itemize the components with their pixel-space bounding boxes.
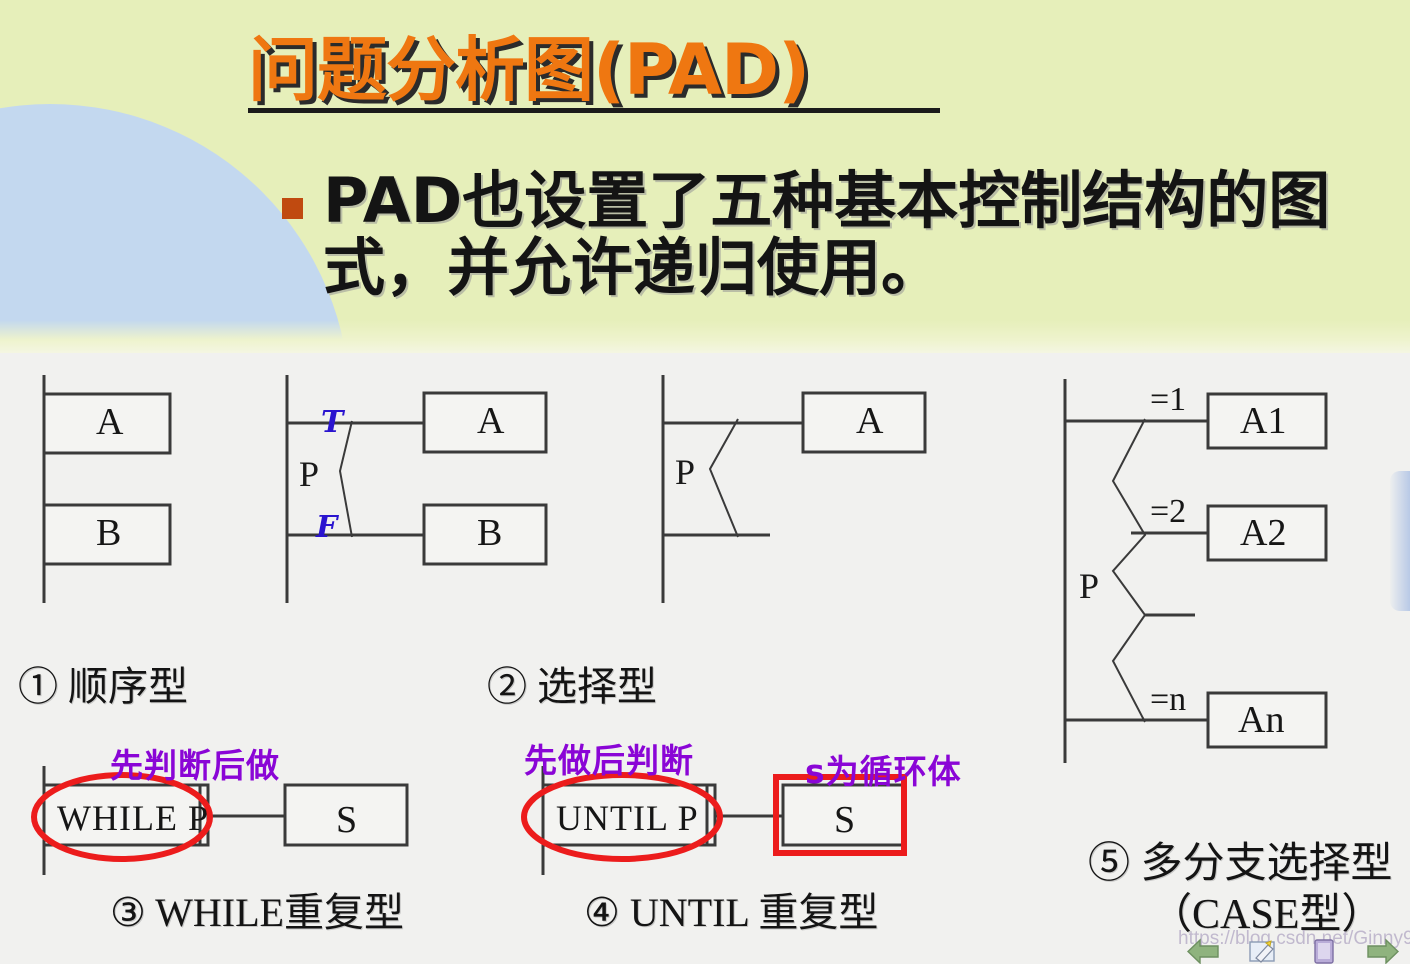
- selection2-true-mark: T: [321, 405, 343, 440]
- case-box-an-label: An: [1238, 698, 1284, 742]
- sequence-box-b-label: B: [96, 511, 121, 555]
- until-caption: ④ UNTIL 重复型: [584, 880, 878, 938]
- title-underline: [248, 108, 940, 113]
- case-condition-label: P: [1079, 565, 1099, 607]
- selection2-false-mark: F: [316, 510, 337, 545]
- sequence-box-a-label: A: [96, 400, 123, 444]
- case-zigzag-bracket: [1113, 419, 1145, 722]
- selection1-condition-label: P: [675, 451, 695, 493]
- selection2-condition-label: P: [299, 453, 319, 495]
- selection2-caption: ② 选择型: [487, 654, 657, 712]
- case-box-a2-label: A2: [1240, 511, 1286, 555]
- sequence-caption: ① 顺序型: [18, 654, 188, 712]
- bullet-square-icon: [282, 198, 303, 219]
- bullet-row: PAD也设置了五种基本控制结构的图式，并允许递归使用。: [282, 168, 1362, 302]
- device-icon[interactable]: [1306, 938, 1340, 964]
- until-annotation: 先做后判断: [524, 734, 694, 782]
- while-caption: ③ WHILE重复型: [110, 880, 404, 938]
- while-body-text: S: [336, 798, 357, 842]
- forward-arrow-icon[interactable]: [1366, 938, 1400, 964]
- until-condition-text: UNTIL P: [556, 797, 699, 839]
- while-condition-text: WHILE P: [57, 797, 209, 839]
- taskbar-icon-strip: [1186, 936, 1406, 964]
- case-branchn-condition: =n: [1150, 681, 1186, 719]
- diagram-canvas: A B ① 顺序型 P T F A B ② 选择型 P A P =1 =2 =n…: [0, 353, 1410, 964]
- until-body-annotation: s为循环体: [805, 745, 962, 793]
- selection1-angle-bracket: [710, 419, 738, 537]
- case-branch2-condition: =2: [1150, 493, 1186, 531]
- while-annotation: 先判断后做: [110, 739, 280, 787]
- selection2-box-b-label: B: [477, 511, 502, 555]
- bullet-text: PAD也设置了五种基本控制结构的图式，并允许递归使用。: [323, 168, 1362, 302]
- header-gradient-fade: [0, 320, 1410, 353]
- selection1-box-a-label: A: [856, 399, 883, 443]
- page-title: 问题分析图(PAD): [248, 14, 809, 115]
- edit-pencil-icon[interactable]: [1246, 938, 1280, 964]
- presentation-slide: 问题分析图(PAD) PAD也设置了五种基本控制结构的图式，并允许递归使用。: [0, 0, 1410, 964]
- case-box-a1-label: A1: [1240, 399, 1286, 443]
- back-arrow-icon[interactable]: [1186, 938, 1220, 964]
- until-body-text: S: [834, 798, 855, 842]
- selection2-box-a-label: A: [477, 399, 504, 443]
- case-branch1-condition: =1: [1150, 381, 1186, 419]
